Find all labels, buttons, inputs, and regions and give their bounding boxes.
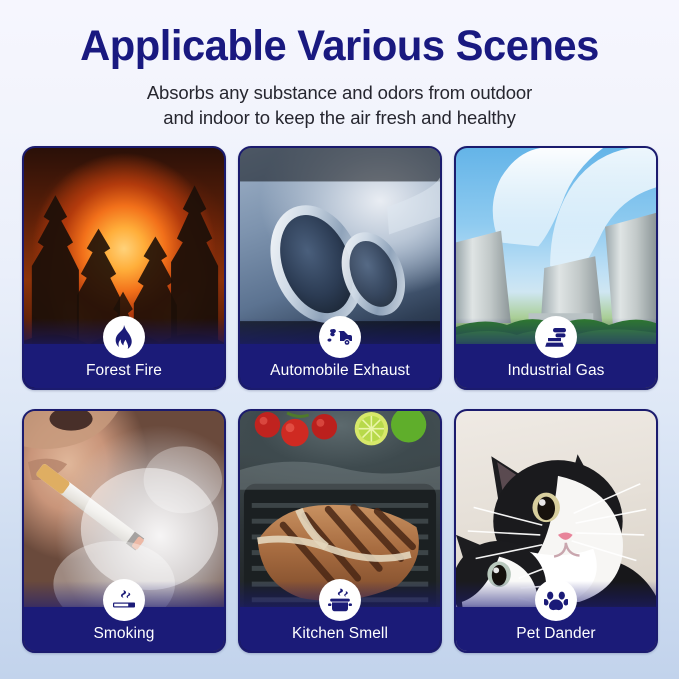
cigarette-icon <box>103 579 145 621</box>
scene-label: Industrial Gas <box>507 362 604 380</box>
scene-card-smoking[interactable]: Smoking <box>22 409 226 653</box>
scene-label: Forest Fire <box>86 362 162 380</box>
scene-grid: Forest Fire <box>22 146 658 653</box>
header: Applicable Various Scenes Absorbs any su… <box>0 0 679 130</box>
flame-icon <box>103 316 145 358</box>
exhaust-car-icon <box>319 316 361 358</box>
scene-card-industrial-gas[interactable]: Industrial Gas <box>454 146 658 390</box>
subtitle-line-1: Absorbs any substance and odors from out… <box>147 82 532 103</box>
steaming-pot-icon <box>319 579 361 621</box>
page-title: Applicable Various Scenes <box>10 22 669 70</box>
scene-card-pet-dander[interactable]: Pet Dander <box>454 409 658 653</box>
page-subtitle: Absorbs any substance and odors from out… <box>0 80 679 130</box>
scene-label: Automobile Exhaust <box>270 362 410 380</box>
subtitle-line-2: and indoor to keep the air fresh and hea… <box>163 107 515 128</box>
scene-label: Pet Dander <box>516 625 595 643</box>
scene-label: Kitchen Smell <box>292 625 388 643</box>
scene-card-automobile-exhaust[interactable]: Automobile Exhaust <box>238 146 442 390</box>
factory-icon <box>535 316 577 358</box>
applicable-scenes-panel: Applicable Various Scenes Absorbs any su… <box>0 0 679 679</box>
scene-card-kitchen-smell[interactable]: Kitchen Smell <box>238 409 442 653</box>
scene-card-forest-fire[interactable]: Forest Fire <box>22 146 226 390</box>
scene-label: Smoking <box>93 625 154 643</box>
paw-print-icon <box>535 579 577 621</box>
